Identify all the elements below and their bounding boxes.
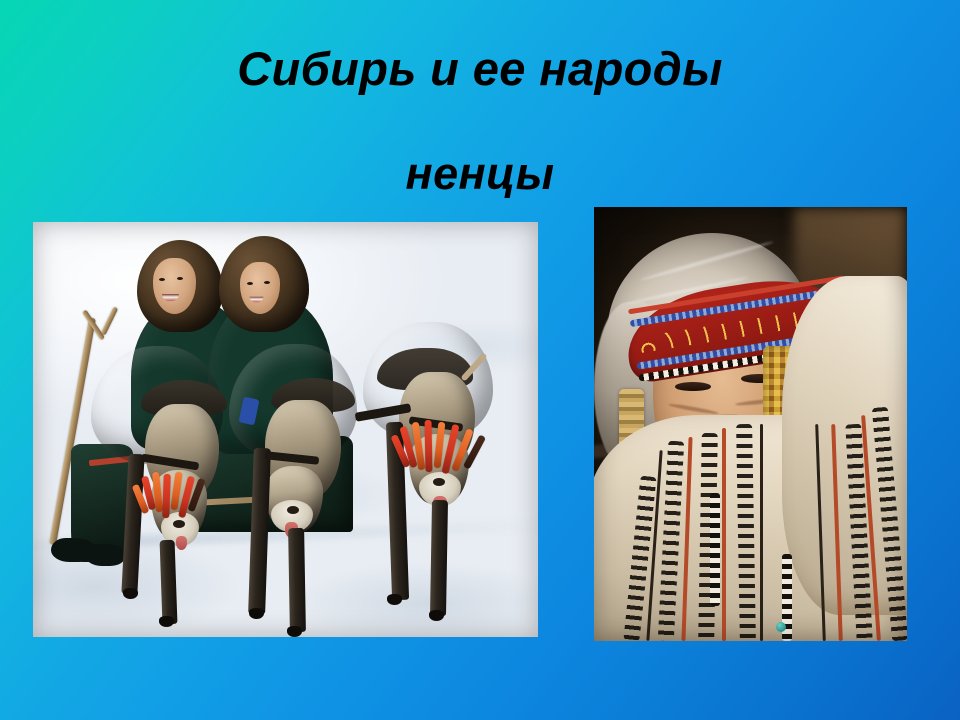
rider-eye: [264, 281, 270, 284]
reindeer-leg: [288, 528, 306, 632]
rider-eye: [247, 282, 253, 285]
reindeer-hoof: [387, 594, 402, 605]
woman-eye-left: [675, 382, 711, 391]
parka-red-stripe: [722, 428, 726, 641]
reindeer-hoof: [123, 588, 138, 599]
rider-eye: [177, 277, 183, 280]
page-title: Сибирь и ее народы: [0, 44, 960, 93]
reindeer-hoof: [429, 610, 444, 621]
turquoise-bead: [776, 622, 786, 632]
parka-dark-stripe: [760, 424, 763, 641]
nenets-elder-woman-photo: [594, 207, 907, 641]
wrinkle: [669, 402, 720, 415]
reindeer-hoof: [249, 608, 264, 619]
reindeer-leg: [430, 500, 448, 616]
reindeer-hoof: [159, 616, 174, 627]
reindeer-nose: [433, 478, 445, 486]
harness-tassel: [425, 420, 433, 472]
reindeer-sled-photo: [33, 222, 538, 637]
reindeer-tongue: [176, 536, 187, 550]
reindeer-nose: [173, 520, 185, 528]
rider-eye: [159, 278, 165, 281]
slide-subtitle: ненцы: [0, 150, 960, 197]
reindeer-leg: [160, 540, 178, 624]
reindeer-nose: [287, 506, 299, 514]
fur-boot-right: [85, 544, 125, 566]
presentation-slide: Сибирь и ее народы ненцы: [0, 0, 960, 720]
parka-bead-strip: [710, 493, 720, 606]
reindeer-hoof: [287, 626, 302, 637]
